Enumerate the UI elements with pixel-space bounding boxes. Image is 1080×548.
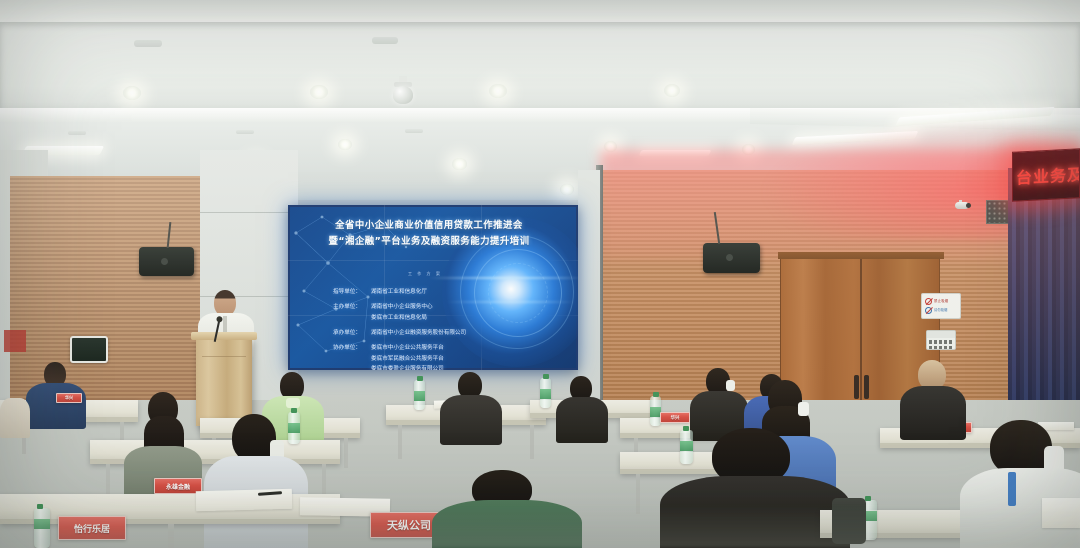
name-card-text: 华兴 (65, 395, 73, 401)
collar (286, 398, 300, 408)
attendee-foreground (432, 470, 582, 548)
thermos-cup (832, 498, 866, 544)
organizer-label: 承办单位： (333, 328, 371, 339)
ceiling-downlight (310, 85, 328, 99)
organizer-label: 主办单位： (333, 302, 371, 313)
wall-mounted-monitor (70, 336, 108, 363)
ceiling-vent (372, 37, 398, 44)
water-bottle (34, 508, 50, 548)
paper-document (1042, 498, 1080, 528)
ceiling-downlight (489, 84, 507, 98)
conference-hall-photo: 禁止吸烟 请勿吸烟 台业务及 (0, 0, 1080, 548)
organizer-group: 承办单位：湖南省中小企业融资服务股份有限公司 (333, 328, 466, 339)
attendee (900, 360, 966, 434)
attendee (556, 376, 608, 436)
projection-screen: 全省中小企业商业价值信用贷款工作推进会 暨“湘企融”平台业务及融资服务能力提升培… (288, 205, 578, 370)
led-banner-text: 台业务及 (1013, 161, 1080, 189)
please-no-smoking-icon (925, 307, 932, 314)
face-mask (726, 380, 735, 391)
organizer-value: 湖南省中小企业服务中心 (371, 304, 433, 310)
organizer-group: 协办单位：娄底市中小企业公共服务平台 娄底市军民融合公共服务平台 娄底市娄盈企业… (333, 343, 466, 370)
name-card-text: 永雄金融 (166, 482, 190, 491)
no-smoking-sub-label: 请勿吸烟 (934, 309, 948, 312)
desk-leg (530, 425, 534, 459)
screen-title: 全省中小企业商业价值信用贷款工作推进会 暨“湘企融”平台业务及融资服务能力提升培… (300, 218, 558, 249)
led-scrolling-banner: 台业务及 (1012, 148, 1080, 202)
lanyard (1008, 472, 1016, 506)
no-smoking-label: 禁止吸烟 (934, 300, 948, 303)
no-smoking-sign: 禁止吸烟 请勿吸烟 (921, 293, 961, 319)
ceiling-projector-ball (392, 76, 414, 104)
organizer-value: 娄底市工业和信息化局 (333, 313, 466, 324)
screen-title-line-1: 全省中小企业商业价值信用贷款工作推进会 (300, 218, 558, 234)
organizer-label: 指导单位： (333, 287, 371, 298)
organizer-label: 协办单位： (333, 343, 371, 354)
organizer-group: 主办单位：湖南省中小企业服务中心 娄底市工业和信息化局 (333, 302, 466, 324)
ceiling-downlight (452, 158, 467, 170)
organizer-value: 湖南省工业和信息化厅 (371, 289, 427, 295)
attendee (204, 414, 308, 548)
attendee (440, 372, 502, 436)
screen-subtitle: 工 作 方 案 (408, 271, 442, 277)
desk-leg (398, 425, 402, 459)
screen-organizer-list: 指导单位：湖南省工业和信息化厅 主办单位：湖南省中小企业服务中心 娄底市工业和信… (333, 287, 466, 370)
organizer-group: 指导单位：湖南省工业和信息化厅 (333, 287, 466, 298)
face-mask (798, 402, 809, 416)
podium (196, 338, 252, 426)
desk-leg (344, 438, 348, 468)
water-bottle (414, 380, 425, 410)
name-card: 华兴 (660, 412, 690, 423)
organizer-value: 娄底市中小企业公共服务平台 (371, 345, 444, 351)
ceiling-downlight (664, 84, 680, 97)
ceiling-vent (68, 131, 86, 135)
name-card-text: 怡行乐居 (74, 522, 110, 535)
ceiling-vent (236, 130, 254, 134)
name-card-text: 天纵公司 (387, 517, 431, 533)
ceiling-vent (134, 40, 162, 47)
no-smoking-icon (925, 298, 932, 305)
water-bottle (540, 378, 551, 408)
name-card-text: 华兴 (671, 415, 680, 421)
attendee (26, 362, 88, 422)
right-wall-speaker (703, 243, 760, 273)
name-card: 怡行乐居 (58, 516, 126, 540)
desk-leg (636, 474, 640, 514)
ceiling-downlight (123, 86, 141, 100)
attendee-foreground (960, 420, 1080, 548)
wall-info-plate (926, 330, 956, 350)
ceiling-downlight (338, 139, 352, 150)
attendee (0, 398, 34, 438)
screen-title-line-2: 暨“湘企融”平台业务及融资服务能力提升培训 (300, 234, 558, 250)
organizer-value: 湖南省中小企业融资服务股份有限公司 (371, 330, 466, 336)
desk-leg (168, 524, 174, 548)
organizer-value: 娄底市军民融合公共服务平台 (333, 354, 466, 365)
name-card: 华兴 (56, 393, 82, 403)
left-wall-speaker (139, 247, 194, 276)
organizer-value: 娄底市娄盈企业服务有限公司 (333, 364, 466, 370)
attendee (124, 392, 202, 488)
ceiling-downlight (560, 184, 574, 195)
ceiling-vent (405, 129, 423, 133)
red-wall-plate (4, 330, 26, 352)
